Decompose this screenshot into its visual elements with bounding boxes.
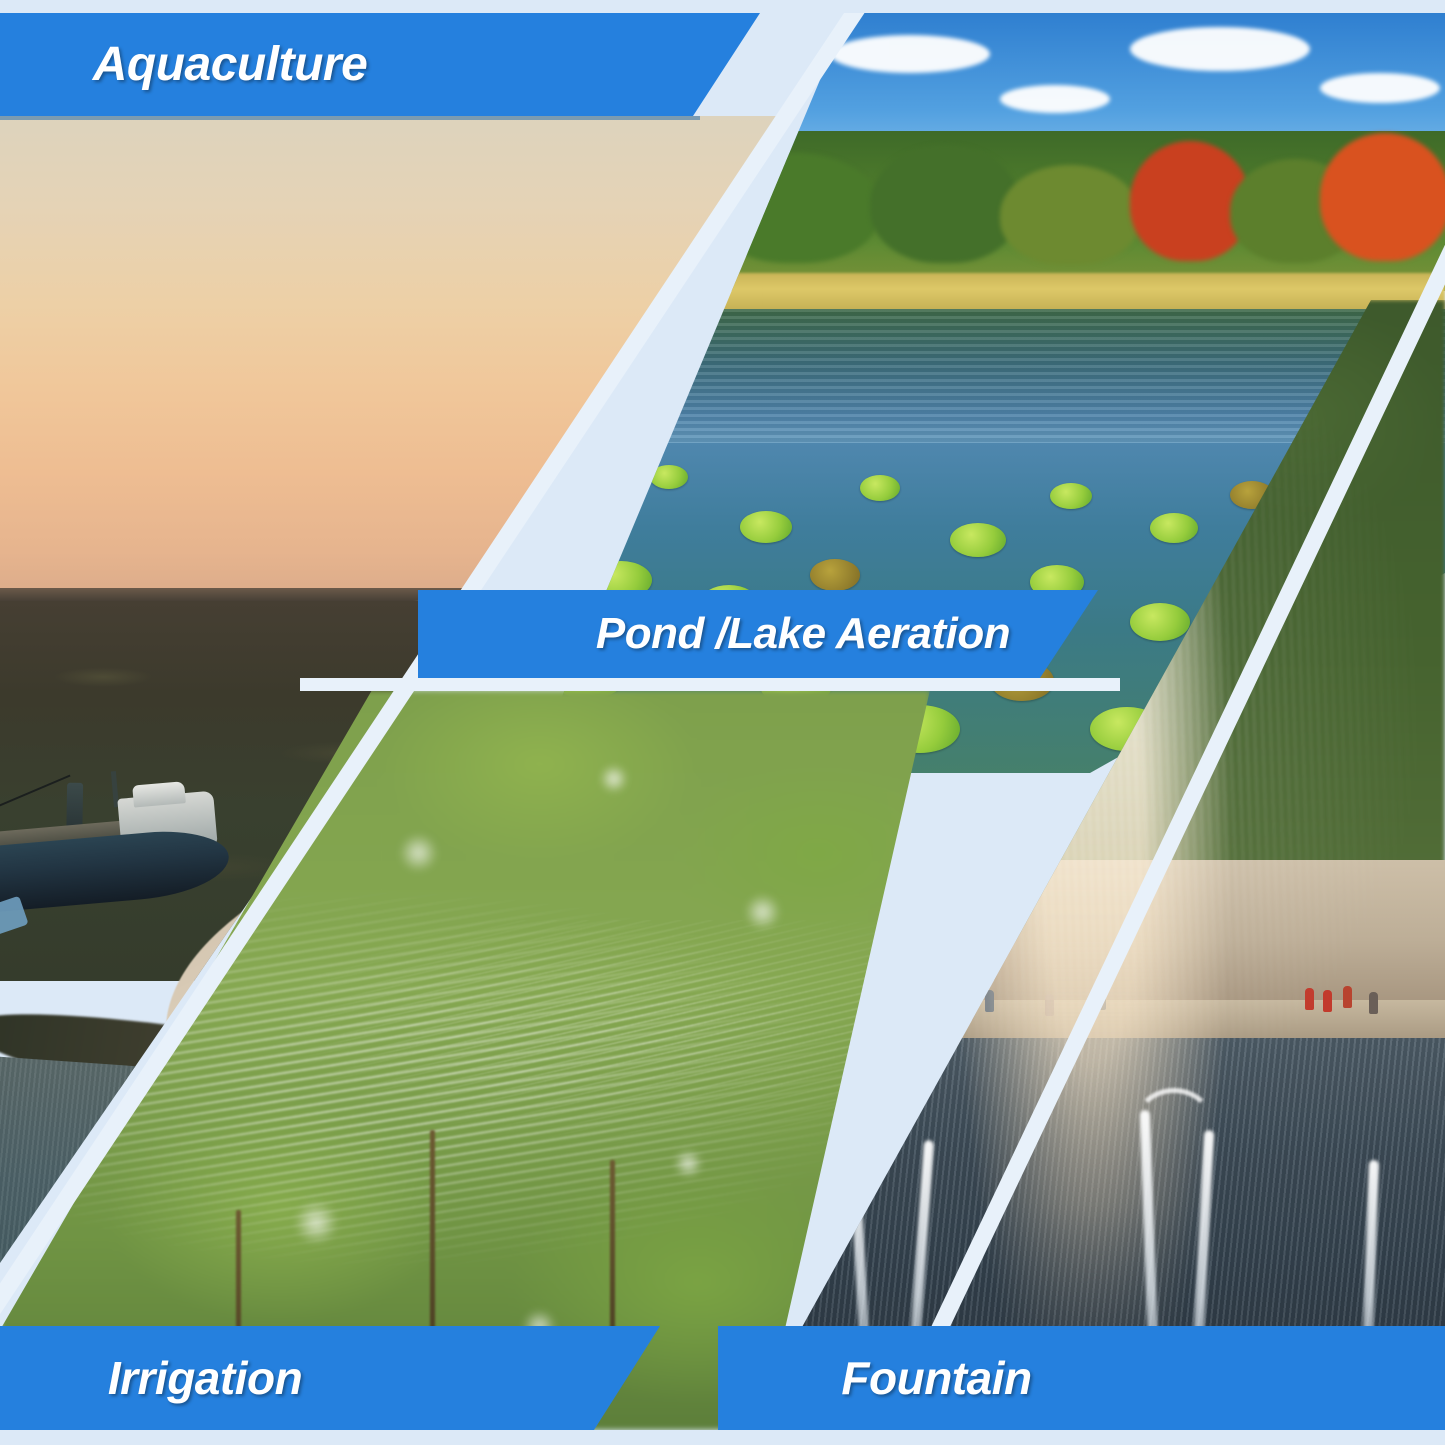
lily-pad	[560, 483, 606, 513]
ship-bridge	[132, 781, 186, 807]
sprinkler-spray-secondary	[120, 920, 930, 1180]
cargo-ship	[0, 770, 276, 936]
label-bar-fountain[interactable]: Fountain	[718, 1326, 1445, 1430]
visitor	[865, 990, 874, 1012]
lily-pad	[1050, 483, 1092, 509]
label-bar-pond-lake-aeration[interactable]: Pond /Lake Aeration	[418, 590, 1098, 678]
label-bar-irrigation[interactable]: Irrigation	[0, 1326, 660, 1430]
application-collage: Aquaculture Pond /Lake Aeration Irrigati…	[0, 0, 1445, 1445]
lily-pad	[860, 475, 900, 501]
bronze-wreath-icon	[887, 884, 921, 918]
label-pond-lake-aeration: Pond /Lake Aeration	[506, 609, 1010, 659]
water-jet-arc	[1133, 1088, 1215, 1164]
cloud	[1320, 73, 1440, 103]
lily-pad	[740, 511, 792, 543]
lily-pad	[650, 465, 688, 489]
red-maple-tree	[1320, 133, 1445, 261]
water-jet-arc	[841, 1098, 933, 1178]
bottom-edge-strip	[0, 1430, 1445, 1445]
top-edge-strip	[0, 0, 1445, 13]
lily-pad	[1130, 603, 1190, 641]
cloud	[1130, 27, 1310, 71]
divider-under-aqua-bar	[0, 116, 700, 120]
cloud	[830, 35, 990, 73]
label-aquaculture: Aquaculture	[93, 37, 668, 92]
label-irrigation: Irrigation	[108, 1351, 552, 1405]
tree	[1000, 165, 1140, 265]
label-fountain: Fountain	[841, 1351, 1321, 1405]
plant-stalk	[430, 1130, 435, 1360]
tree	[870, 145, 1020, 263]
visitor	[931, 992, 940, 1014]
visitor	[895, 988, 904, 1010]
lily-pad	[1150, 513, 1198, 543]
cloud	[1000, 85, 1110, 113]
lily-pad	[810, 559, 860, 591]
horizontal-divider-mid	[300, 678, 1120, 691]
lily-pad	[950, 523, 1006, 557]
bronze-wreath-icon	[975, 884, 1009, 918]
label-bar-aquaculture[interactable]: Aquaculture	[0, 13, 760, 116]
